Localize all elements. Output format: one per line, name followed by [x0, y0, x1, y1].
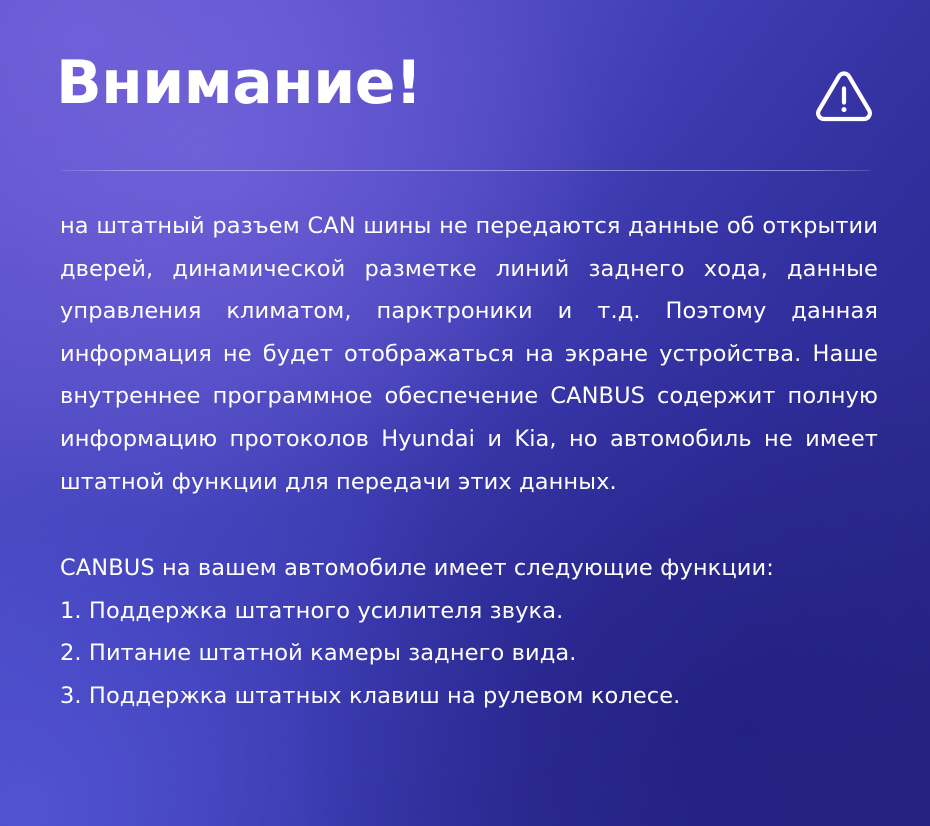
features-lead-text: CANBUS на вашем автомобиле имеет следующ… [60, 547, 878, 590]
features-list: 1. Поддержка штатного усилителя звука. 2… [60, 590, 878, 718]
features-block: CANBUS на вашем автомобиле имеет следующ… [60, 547, 878, 717]
attention-notice-banner: Внимание! на штатный разъем CAN шины не … [0, 0, 930, 826]
warning-triangle-icon [812, 64, 876, 128]
intro-paragraph: на штатный разъем CAN шины не передаются… [60, 205, 878, 503]
page-title: Внимание! [56, 48, 422, 118]
list-item: 2. Питание штатной камеры заднего вида. [60, 632, 878, 675]
banner-header: Внимание! [0, 0, 930, 170]
header-divider [61, 170, 870, 171]
list-item: 3. Поддержка штатных клавиш на рулевом к… [60, 675, 878, 718]
banner-content: на штатный разъем CAN шины не передаются… [60, 205, 880, 718]
list-item: 1. Поддержка штатного усилителя звука. [60, 590, 878, 633]
